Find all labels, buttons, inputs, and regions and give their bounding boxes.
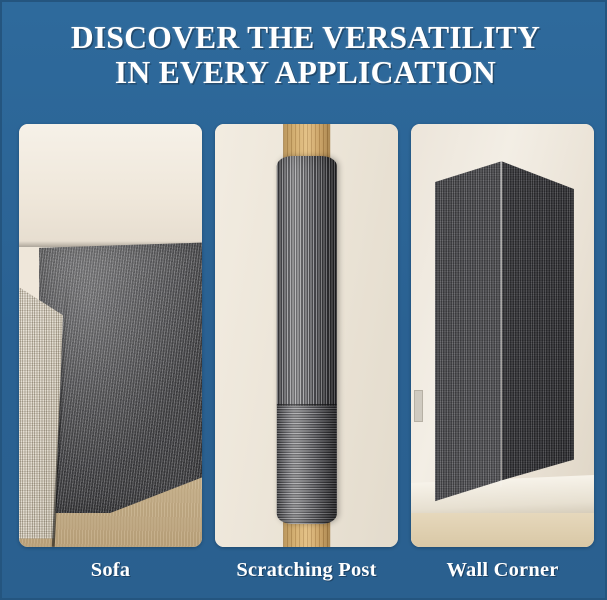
- headline-line-1: DISCOVER THE VERSATILITY: [2, 20, 607, 55]
- corner-face-left: [435, 158, 502, 505]
- caption-row: Sofa Scratching Post Wall Corner: [19, 555, 594, 589]
- corner-floor: [411, 513, 594, 547]
- page-title: DISCOVER THE VERSATILITY IN EVERY APPLIC…: [2, 20, 607, 90]
- caption-wall-corner: Wall Corner: [411, 555, 594, 589]
- wall-outlet: [414, 390, 423, 422]
- caption-scratching-post: Scratching Post: [215, 555, 398, 589]
- panel-sofa: [19, 124, 202, 547]
- headline-line-2: IN EVERY APPLICATION: [2, 55, 607, 90]
- corner-ridge-highlight: [500, 161, 502, 487]
- sofa-wall-background: [19, 124, 202, 247]
- corner-face-right: [502, 158, 574, 505]
- panel-row: [19, 124, 594, 547]
- panel-scratching-post: [215, 124, 398, 547]
- corner-carpet-guard: [435, 158, 574, 505]
- product-infographic-poster: DISCOVER THE VERSATILITY IN EVERY APPLIC…: [0, 0, 607, 600]
- caption-sofa: Sofa: [19, 555, 202, 589]
- panel-wall-corner: [411, 124, 594, 547]
- wrap-sheen: [276, 156, 336, 524]
- post-carpet-wrap: [276, 156, 336, 524]
